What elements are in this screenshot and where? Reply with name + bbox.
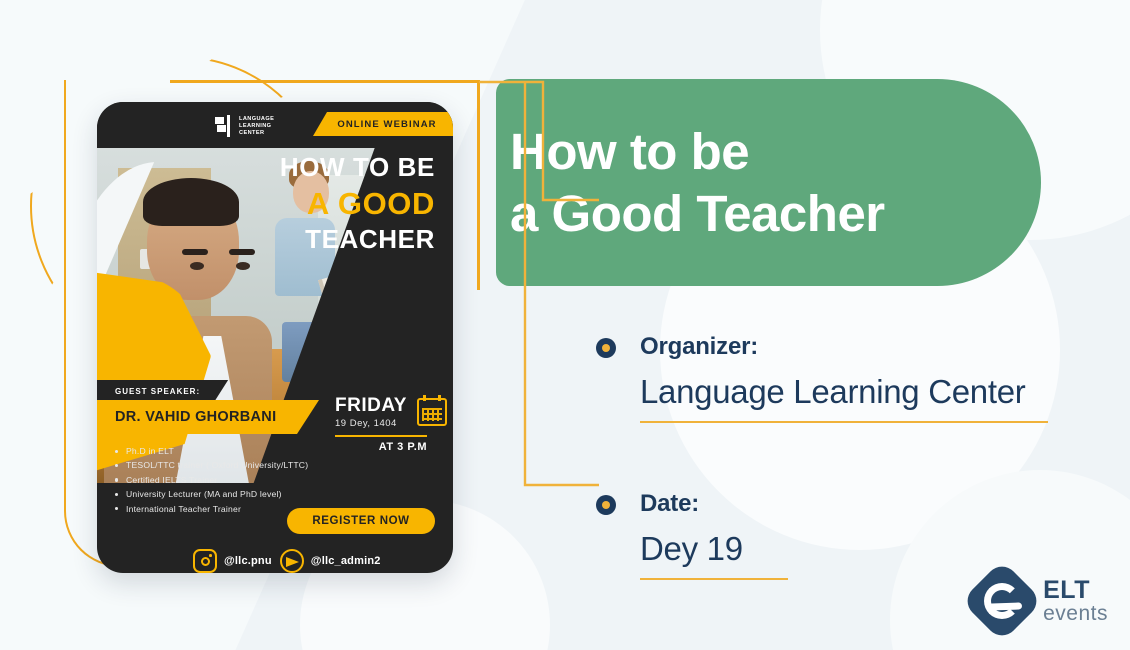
poster-socials: @llc.pnu @llc_admin2 [97, 544, 453, 573]
organizer-label: Organizer: [640, 333, 1070, 361]
organizer-value: Language Learning Center [640, 373, 1070, 411]
calendar-icon [417, 398, 447, 426]
llc-logo-line2: LEARNING [239, 123, 274, 130]
register-now-button[interactable]: REGISTER NOW [287, 508, 435, 534]
bullet-organizer [596, 338, 616, 358]
date-divider [640, 578, 788, 580]
date-label: Date: [640, 490, 1070, 518]
date-value: Dey 19 [640, 530, 1070, 568]
bullet-date [596, 495, 616, 515]
telegram-handle-item[interactable]: @llc_admin2 [280, 549, 381, 573]
brand-name-light: events [1043, 603, 1108, 625]
list-item: TESOL/TTC trainer ( Oxford University/LT… [115, 458, 365, 472]
list-item: Ph.D in ELT [115, 444, 365, 458]
poster-headline-line3: TEACHER [305, 226, 435, 252]
online-webinar-badge: ONLINE WEBINAR [313, 112, 453, 136]
poster-headline-line1: HOW TO BE [280, 154, 435, 180]
poster-headline-line2: A GOOD [307, 188, 435, 219]
date-divider [335, 435, 427, 437]
telegram-icon [280, 549, 304, 573]
llc-logo: LANGUAGE LEARNING CENTER [215, 110, 303, 142]
brand-name-bold: ELT [1043, 577, 1108, 603]
speaker-name-banner: DR. VAHID GHORBANI [97, 400, 319, 434]
llc-logo-line3: CENTER [239, 130, 274, 137]
elt-events-logo: ELT events [973, 572, 1108, 630]
event-title-banner: How to be a Good Teacher [496, 79, 1041, 286]
book-stack-icon [215, 115, 235, 137]
page-canvas: LANGUAGE LEARNING CENTER ONLINE WEBINAR … [0, 0, 1130, 650]
instagram-handle: @llc.pnu [224, 555, 272, 567]
detail-organizer: Organizer: Language Learning Center [640, 333, 1070, 423]
list-item: Certified IELTS Trainer [115, 473, 365, 487]
instagram-icon [193, 549, 217, 573]
elt-e-logo-icon [961, 560, 1043, 642]
organizer-divider [640, 421, 1048, 423]
telegram-handle: @llc_admin2 [311, 555, 381, 567]
list-item: University Lecturer (MA and PhD level) [115, 487, 365, 501]
speaker-name: DR. VAHID GHORBANI [115, 409, 276, 425]
page-title-line1: How to be [510, 125, 1041, 179]
event-poster[interactable]: LANGUAGE LEARNING CENTER ONLINE WEBINAR … [97, 102, 453, 573]
guest-speaker-label: GUEST SPEAKER: [97, 380, 228, 402]
page-title-line2: a Good Teacher [510, 187, 1041, 241]
speaker-credentials-list: Ph.D in ELT TESOL/TTC trainer ( Oxford U… [115, 444, 365, 516]
frame-right-line [477, 80, 480, 290]
instagram-handle-item[interactable]: @llc.pnu [193, 549, 272, 573]
llc-logo-line1: LANGUAGE [239, 116, 274, 123]
